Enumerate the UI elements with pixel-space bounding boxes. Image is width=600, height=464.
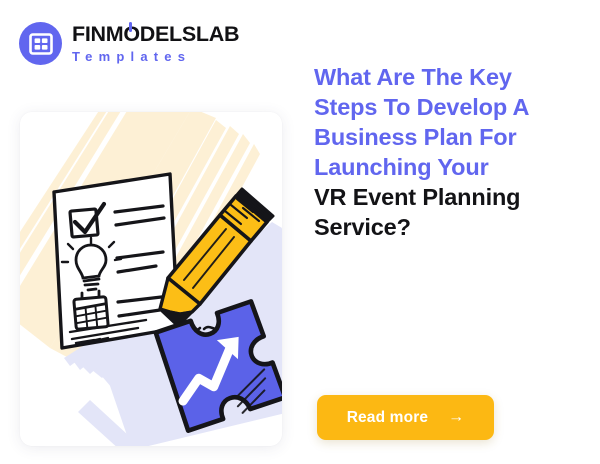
brand-name-text: FINMODELSLAB <box>72 22 239 46</box>
brand-wordmark: FINMODELSLAB Templates <box>72 22 239 65</box>
read-more-label: Read more <box>347 409 428 427</box>
headline-line-2: Steps To Develop A <box>314 93 586 123</box>
headline-line-1: What Are The Key <box>314 63 586 93</box>
read-more-button[interactable]: Read more → <box>317 395 494 440</box>
checklist-document <box>54 174 178 348</box>
headline-line-6: Service? <box>314 213 586 243</box>
page-title: What Are The Key Steps To Develop A Busi… <box>314 63 586 243</box>
arrow-right-icon: → <box>448 409 464 425</box>
headline-line-4: Launching Your <box>314 153 586 183</box>
headline-block: What Are The Key Steps To Develop A Busi… <box>314 63 586 243</box>
headline-line-5: VR Event Planning <box>314 183 586 213</box>
power-tick-icon <box>129 22 132 32</box>
brand-tagline: Templates <box>72 48 239 66</box>
headline-line-3: Business Plan For <box>314 123 586 153</box>
brand-logo[interactable]: FINMODELSLAB Templates <box>19 22 239 65</box>
grid-squares-icon <box>19 22 62 65</box>
business-plan-illustration <box>20 112 282 446</box>
brand-name: FINMODELSLAB <box>72 23 239 46</box>
promo-banner: FINMODELSLAB Templates <box>0 0 600 464</box>
